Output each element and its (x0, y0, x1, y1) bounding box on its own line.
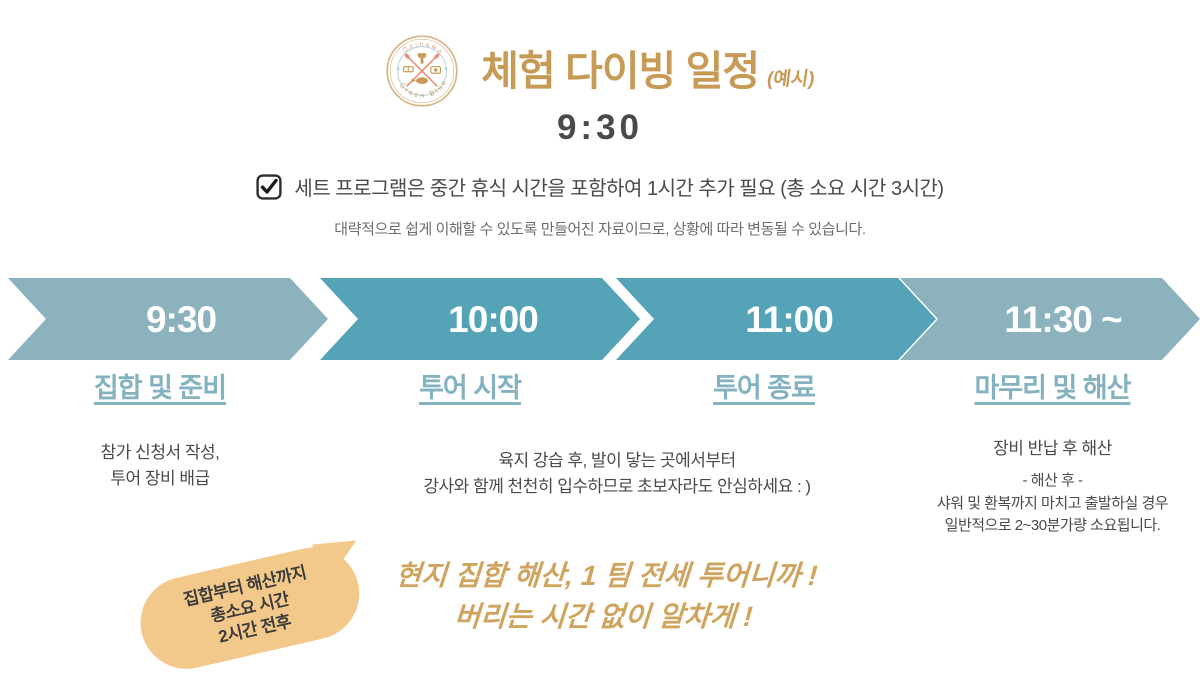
timeline-step-after-body: 샤워 및 환복까지 마치고 출발하실 경우 일반적으로 2~30분가량 소요됩니… (905, 493, 1200, 538)
timeline-chevrons: 9:30 10:00 11:00 11:30 ~ (0, 278, 1200, 360)
timeline-steps: 집합 및 준비 참가 신청서 작성, 투어 장비 배급 투어 시작 투어 종료 … (0, 374, 1200, 574)
timeline-step-after-title: - 해산 후 - (905, 470, 1200, 493)
timeline-step-label-1: 집합 및 준비 (0, 374, 320, 404)
page-header: Okinawa Green Blue 체험 다이빙 일정 (예시) (0, 34, 1200, 108)
timeline-chevron-time-4: 11:30 ~ (978, 301, 1121, 338)
checked-checkbox-icon (256, 174, 282, 200)
timeline-chevron-2: 10:00 (320, 278, 640, 360)
timeline-chevron-time-2: 10:00 (422, 301, 538, 338)
timeline-chevron-3: 11:00 (616, 278, 936, 360)
notice-row: 세트 프로그램은 중간 휴식 시간을 포함하여 1시간 추가 필요 (총 소요 … (0, 172, 1200, 201)
handwritten-slogan: 현지 집합 해산, 1 팀 전세 투어니까 ! 버리는 시간 없이 알차게 ! (367, 556, 843, 637)
start-time: 9:30 (0, 108, 1200, 148)
timeline-step-label-4: 마무리 및 해산 (905, 374, 1200, 404)
okinawa-green-blue-emblem-icon: Okinawa Green Blue (385, 34, 459, 108)
timeline-chevron-time-1: 9:30 (120, 301, 216, 338)
timeline-chevron-time-3: 11:00 (719, 301, 833, 338)
timeline-step-1: 집합 및 준비 참가 신청서 작성, 투어 장비 배급 (0, 374, 320, 492)
timeline-step-desc-4: 장비 반납 후 해산 (905, 436, 1200, 462)
notice-subtext: 대략적으로 쉽게 이해할 수 있도록 만들어진 자료이므로, 상황에 따라 변동… (0, 218, 1200, 239)
timeline-step-shared-desc: 육지 강습 후, 발이 닿는 곳에서부터 강사와 함께 천천히 입수하므로 초보… (320, 374, 914, 501)
timeline-chevron-4: 11:30 ~ (900, 278, 1200, 360)
title-example-note: (예시) (766, 70, 816, 89)
timeline-chevron-1: 9:30 (8, 278, 328, 360)
timeline-step-desc-2: 육지 강습 후, 발이 닿는 곳에서부터 강사와 함께 천천히 입수하므로 초보… (320, 448, 914, 501)
timeline-step-4: 마무리 및 해산 장비 반납 후 해산 - 해산 후 - 샤워 및 환복까지 마… (905, 374, 1200, 538)
title-block: 체험 다이빙 일정 (예시) (481, 51, 814, 92)
page-title: 체험 다이빙 일정 (481, 51, 759, 92)
notice-text: 세트 프로그램은 중간 휴식 시간을 포함하여 1시간 추가 필요 (총 소요 … (294, 172, 943, 201)
timeline-step-desc-1: 참가 신청서 작성, 투어 장비 배급 (0, 440, 320, 493)
